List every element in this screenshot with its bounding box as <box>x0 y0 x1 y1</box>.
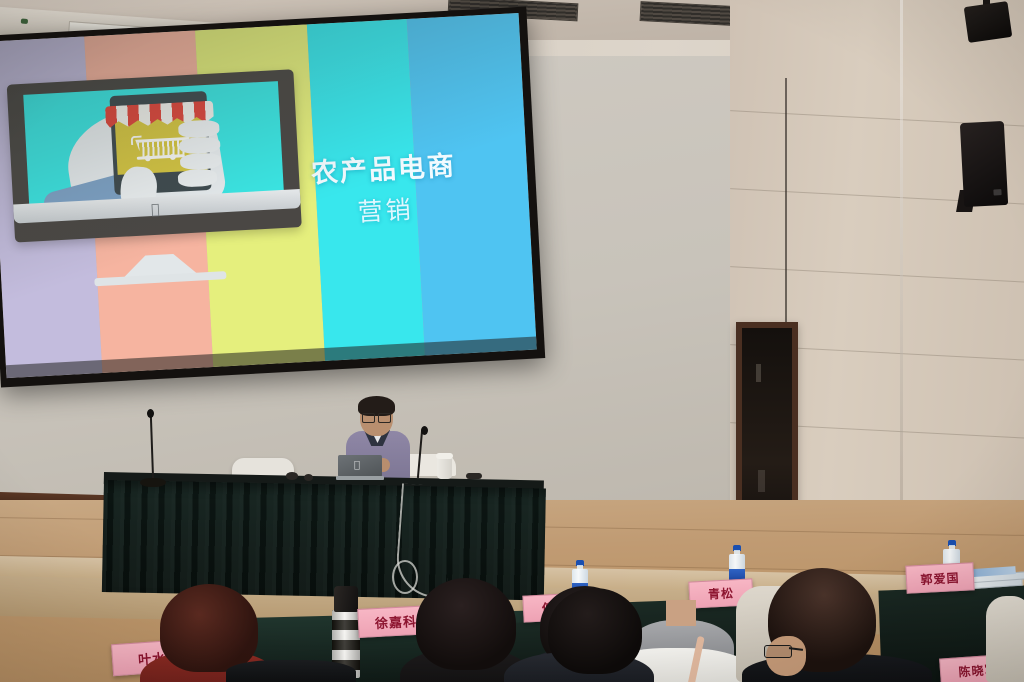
laptop-base <box>336 476 384 480</box>
finger <box>178 169 217 187</box>
paper-cup[interactable] <box>437 457 452 479</box>
projection-screen:  农产品电商 营销 <box>0 7 545 388</box>
finger <box>178 119 220 138</box>
cart-wheel <box>144 155 150 161</box>
table-object <box>466 473 482 479</box>
slide-text-block: 农产品电商 营销 <box>261 149 509 235</box>
eyeglasses-icon <box>764 645 792 658</box>
wall-column-edge <box>900 0 903 540</box>
cart-wheel <box>170 154 176 160</box>
wall-speaker-icon <box>960 121 1008 207</box>
imac-illustration:  <box>7 69 304 286</box>
cup-lid <box>436 453 453 459</box>
table-object <box>304 474 313 481</box>
microphone-head-icon <box>421 426 428 435</box>
neck <box>666 600 696 626</box>
open-doorway[interactable] <box>742 328 792 520</box>
audience-person-head <box>416 578 516 670</box>
door-frame <box>736 322 798 520</box>
microphone-base <box>140 478 166 487</box>
hair <box>160 584 258 672</box>
macbook-laptop[interactable]:  <box>336 455 384 481</box>
imac-bezel:  <box>7 69 302 242</box>
chair-back[interactable] <box>986 596 1024 682</box>
table-object <box>286 472 298 480</box>
door-interior-highlight <box>758 470 765 492</box>
projection-surface:  农产品电商 营销 <box>0 13 537 378</box>
power-cable-loop <box>392 560 418 594</box>
audience-person-body <box>226 660 356 682</box>
conference-hall-photo:  农产品电商 营销 <box>0 0 1024 682</box>
microphone-head-icon <box>147 409 154 418</box>
wall-speaker-icon <box>964 1 1013 43</box>
flask-cap <box>334 586 358 612</box>
hair <box>416 578 516 670</box>
audience-person-head <box>548 588 642 674</box>
door-interior-highlight <box>756 364 761 382</box>
smoke-detector-icon <box>21 19 28 24</box>
eyeglasses-icon <box>362 413 391 421</box>
apple-logo-icon:  <box>151 202 165 218</box>
hair <box>548 588 642 674</box>
name-card[interactable]: 郭爱国 <box>905 562 974 594</box>
apple-logo-icon:  <box>354 461 363 471</box>
audience-person-head <box>160 584 258 672</box>
